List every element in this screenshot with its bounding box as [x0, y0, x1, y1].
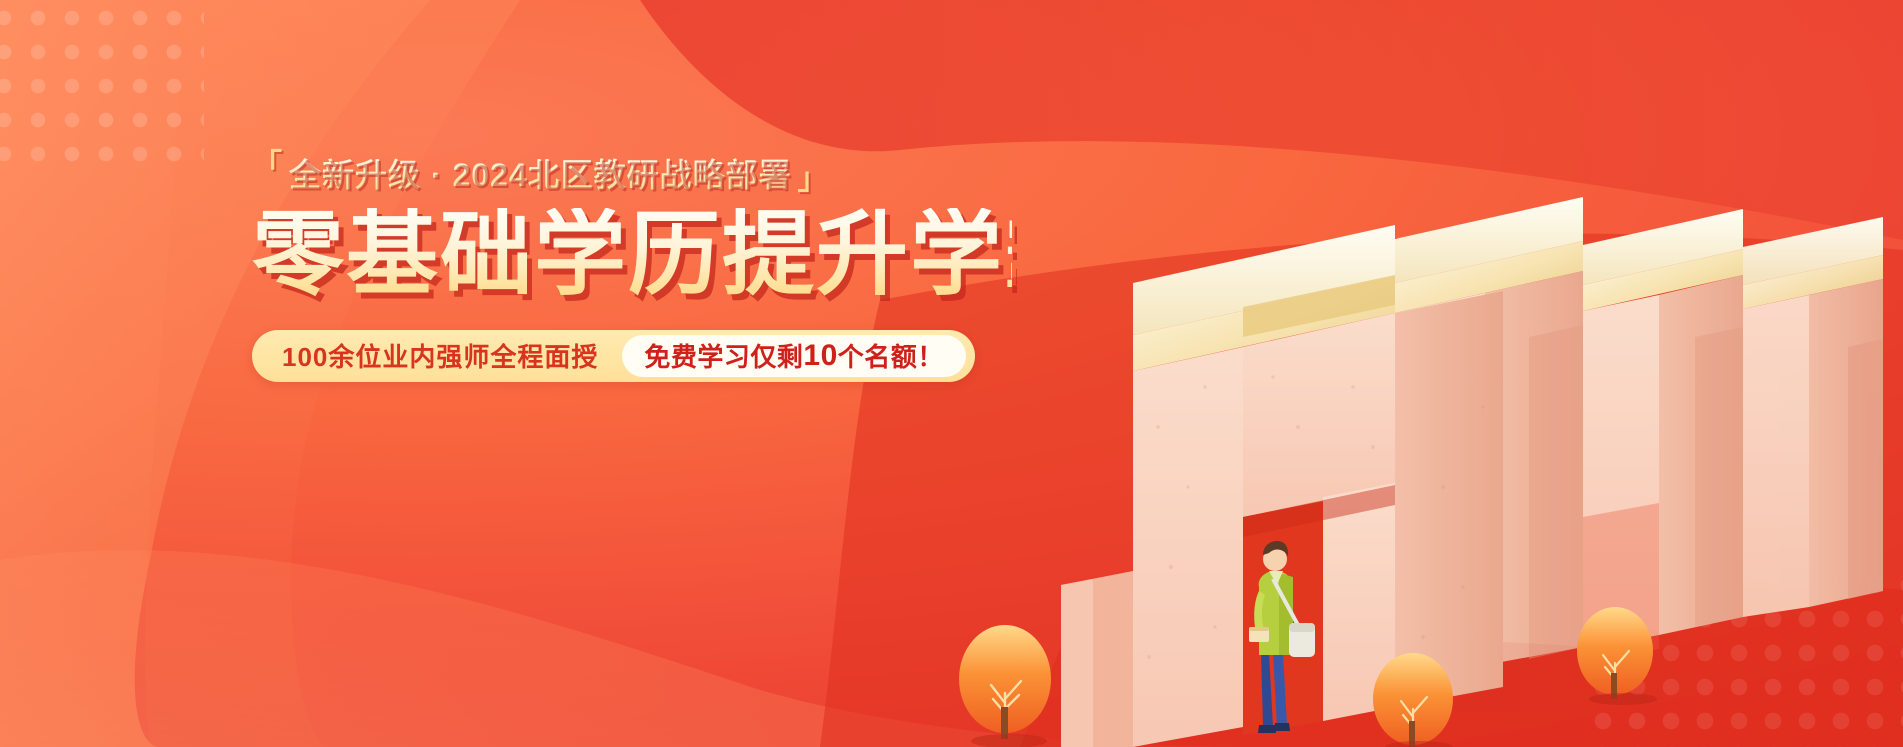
- seats-count: 10: [803, 339, 837, 373]
- seats-prefix: 免费学习仅剩: [644, 337, 803, 374]
- tree-mid: [1373, 653, 1453, 747]
- offer-pill-label: 100余位业内强师全程面授: [282, 337, 622, 374]
- headline-block: 「 全新升级 · 2024北区教研战略部署 」 零基础学历提升学霸班 100余位…: [252, 150, 1012, 382]
- promo-banner: 「 全新升级 · 2024北区教研战略部署 」 零基础学历提升学霸班 100余位…: [0, 0, 1903, 747]
- open-bracket-icon: 「: [252, 151, 283, 181]
- seats-remaining-badge[interactable]: 免费学习仅剩10个名额！: [622, 335, 965, 377]
- close-bracket-icon: 」: [798, 165, 829, 195]
- seats-suffix: 个名额！: [838, 337, 944, 374]
- subtitle-line: 「 全新升级 · 2024北区教研战略部署 」: [252, 150, 1012, 196]
- page-title: 零基础学历提升学霸班: [252, 208, 1012, 304]
- offer-pill[interactable]: 100余位业内强师全程面授 免费学习仅剩10个名额！: [252, 330, 975, 382]
- dot-grid-top-left: [0, 8, 204, 180]
- subtitle-text: 全新升级 · 2024北区教研战略部署: [289, 150, 792, 196]
- tree-left: [959, 625, 1051, 747]
